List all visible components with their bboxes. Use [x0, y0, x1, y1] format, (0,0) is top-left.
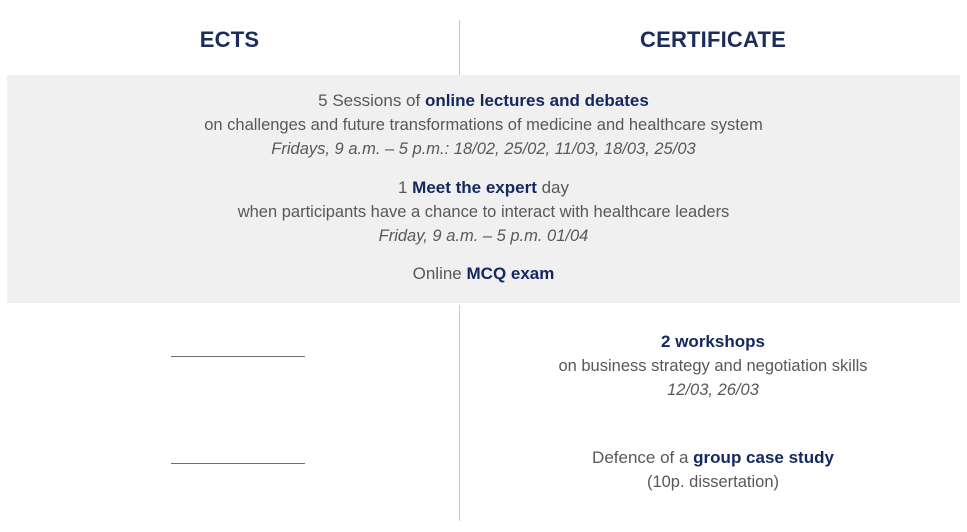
meet-expert-headline: 1 Meet the expert day: [7, 176, 960, 200]
workshops-block: 2 workshops on business strategy and neg…: [459, 330, 967, 402]
column-divider-top: [459, 20, 460, 76]
meet-expert-headline-prefix: 1: [398, 178, 412, 197]
comparison-table: ECTS CERTIFICATE 5 Sessions of online le…: [0, 0, 967, 532]
column-header-certificate: CERTIFICATE: [459, 27, 967, 53]
ects-placeholder-rule-1: [171, 356, 305, 357]
meet-expert-headline-suffix: day: [537, 178, 569, 197]
spacer-1: [7, 161, 960, 176]
meet-expert-headline-highlight: Meet the expert: [412, 178, 537, 197]
workshops-description: on business strategy and negotiation ski…: [459, 354, 967, 378]
sessions-description: on challenges and future transformations…: [7, 113, 960, 137]
sessions-block: 5 Sessions of online lectures and debate…: [7, 89, 960, 161]
shared-content-band: 5 Sessions of online lectures and debate…: [7, 75, 960, 303]
workshops-schedule: 12/03, 26/03: [459, 378, 967, 402]
workshops-headline: 2 workshops: [459, 330, 967, 354]
defence-description: (10p. dissertation): [459, 470, 967, 494]
meet-expert-description: when participants have a chance to inter…: [7, 200, 960, 224]
mcq-exam-headline: Online MCQ exam: [7, 262, 960, 286]
defence-headline: Defence of a group case study: [459, 446, 967, 470]
sessions-headline-highlight: online lectures and debates: [425, 91, 649, 110]
workshops-headline-highlight: 2 workshops: [661, 332, 765, 351]
mcq-exam-headline-prefix: Online: [413, 264, 467, 283]
sessions-headline: 5 Sessions of online lectures and debate…: [7, 89, 960, 113]
ects-placeholder-rule-2: [171, 463, 305, 464]
column-header-ects: ECTS: [0, 27, 459, 53]
meet-expert-schedule: Friday, 9 a.m. – 5 p.m. 01/04: [7, 224, 960, 248]
sessions-headline-prefix: 5 Sessions of: [318, 91, 425, 110]
mcq-exam-headline-highlight: MCQ exam: [467, 264, 555, 283]
meet-expert-block: 1 Meet the expert day when participants …: [7, 176, 960, 248]
defence-headline-highlight: group case study: [693, 448, 834, 467]
mcq-exam-block: Online MCQ exam: [7, 262, 960, 286]
defence-headline-prefix: Defence of a: [592, 448, 693, 467]
defence-block: Defence of a group case study (10p. diss…: [459, 446, 967, 494]
spacer-2: [7, 248, 960, 262]
sessions-schedule: Fridays, 9 a.m. – 5 p.m.: 18/02, 25/02, …: [7, 137, 960, 161]
shared-content-band-inner: 5 Sessions of online lectures and debate…: [7, 75, 960, 286]
